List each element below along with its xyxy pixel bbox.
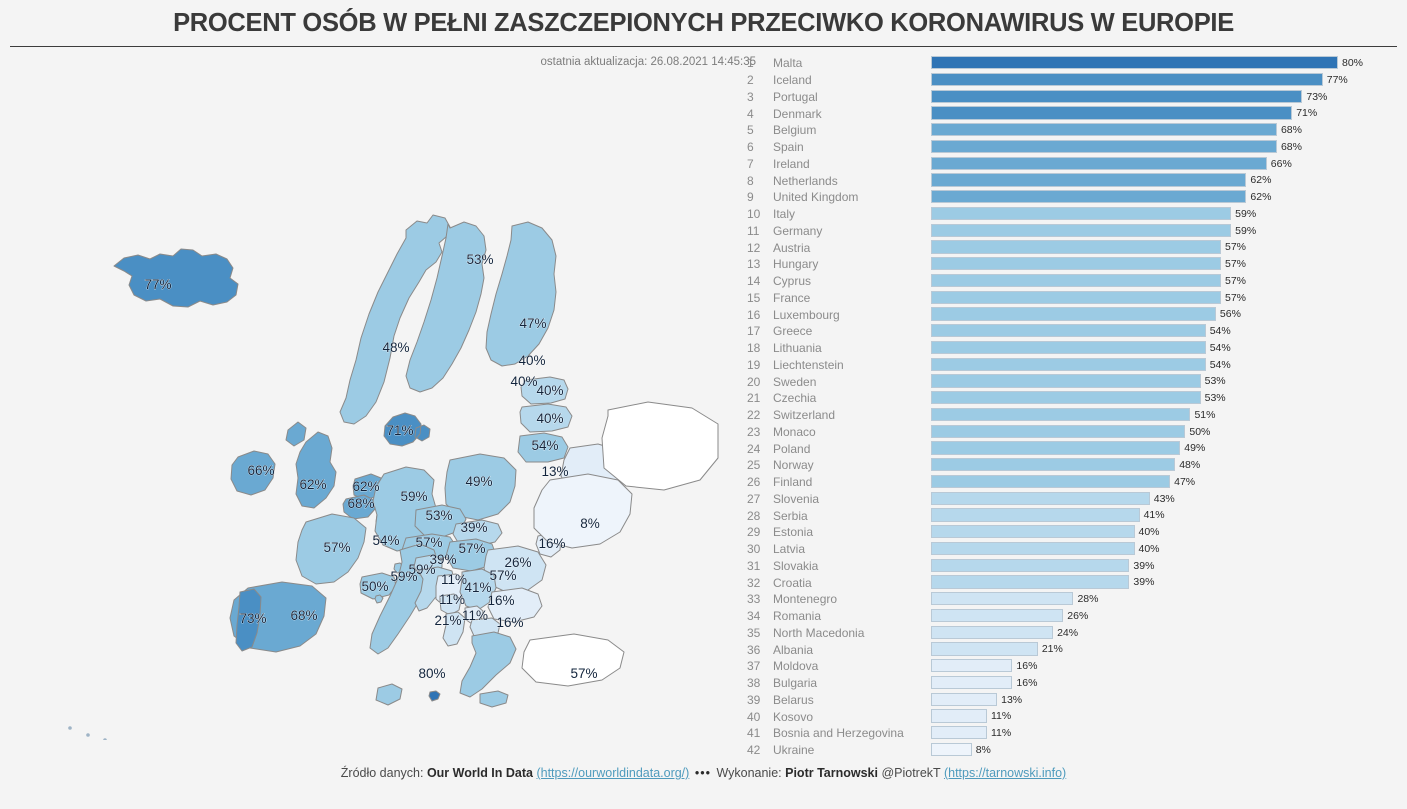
value-label: 53% bbox=[1205, 392, 1226, 404]
value-label: 16% bbox=[1016, 677, 1037, 689]
rank-number: 15 bbox=[745, 291, 773, 305]
value-bar[interactable] bbox=[931, 391, 1201, 404]
ranking-row[interactable]: 9United Kingdom62% bbox=[745, 189, 1395, 206]
ranking-row[interactable]: 25Norway48% bbox=[745, 457, 1395, 474]
bar-zone: 28% bbox=[931, 591, 1395, 608]
value-bar[interactable] bbox=[931, 458, 1175, 471]
ranking-row[interactable]: 14Cyprus57% bbox=[745, 273, 1395, 290]
ranking-row[interactable]: 5Belgium68% bbox=[745, 122, 1395, 139]
bar-zone: 24% bbox=[931, 625, 1395, 642]
bar-zone: 16% bbox=[931, 675, 1395, 692]
value-bar[interactable] bbox=[931, 324, 1206, 337]
rank-number: 4 bbox=[745, 107, 773, 121]
bar-zone: 50% bbox=[931, 424, 1395, 441]
ranking-row[interactable]: 31Slovakia39% bbox=[745, 558, 1395, 575]
rank-number: 13 bbox=[745, 257, 773, 271]
bar-zone: 54% bbox=[931, 357, 1395, 374]
rank-number: 39 bbox=[745, 693, 773, 707]
bar-zone: 13% bbox=[931, 692, 1395, 709]
map-value-label-cyprus: 57% bbox=[570, 666, 597, 681]
map-region-greece[interactable] bbox=[460, 632, 516, 707]
value-bar[interactable] bbox=[931, 525, 1135, 538]
value-label: 51% bbox=[1194, 409, 1215, 421]
map-value-label-malta: 80% bbox=[418, 666, 445, 681]
country-name: Germany bbox=[773, 224, 931, 238]
value-label: 62% bbox=[1250, 174, 1271, 186]
bar-zone: 39% bbox=[931, 558, 1395, 575]
country-name: Italy bbox=[773, 207, 931, 221]
ranking-row[interactable]: 17Greece54% bbox=[745, 323, 1395, 340]
bar-zone: 53% bbox=[931, 390, 1395, 407]
ranking-row[interactable]: 36Albania21% bbox=[745, 641, 1395, 658]
ranking-row[interactable]: 3Portugal73% bbox=[745, 89, 1395, 106]
value-label: 77% bbox=[1327, 74, 1348, 86]
value-label: 13% bbox=[1001, 694, 1022, 706]
map-region-iceland[interactable] bbox=[114, 249, 238, 307]
map-value-label-netherlands: 62% bbox=[352, 479, 379, 494]
bar-zone: 62% bbox=[931, 189, 1395, 206]
value-label: 8% bbox=[976, 744, 991, 756]
value-label: 26% bbox=[1067, 610, 1088, 622]
bar-zone: 47% bbox=[931, 474, 1395, 491]
bar-zone: 56% bbox=[931, 306, 1395, 323]
value-label: 40% bbox=[1139, 543, 1160, 555]
value-bar[interactable] bbox=[931, 441, 1180, 454]
bar-zone: 73% bbox=[931, 89, 1395, 106]
country-name: Austria bbox=[773, 241, 931, 255]
value-bar[interactable] bbox=[931, 257, 1221, 270]
bar-zone: 16% bbox=[931, 658, 1395, 675]
bar-zone: 40% bbox=[931, 524, 1395, 541]
bar-zone: 71% bbox=[931, 105, 1395, 122]
map-region-united-kingdom[interactable] bbox=[286, 422, 336, 508]
ranking-row[interactable]: 39Belarus13% bbox=[745, 692, 1395, 709]
rank-number: 41 bbox=[745, 726, 773, 740]
rank-number: 40 bbox=[745, 710, 773, 724]
bar-zone: 11% bbox=[931, 708, 1395, 725]
country-name: Belarus bbox=[773, 693, 931, 707]
author-label: Wykonanie: bbox=[716, 766, 781, 780]
value-bar[interactable] bbox=[931, 626, 1053, 639]
country-name: Bulgaria bbox=[773, 676, 931, 690]
bar-zone: 51% bbox=[931, 407, 1395, 424]
rank-number: 27 bbox=[745, 492, 773, 506]
author-name: Piotr Tarnowski bbox=[785, 766, 878, 780]
bar-zone: 77% bbox=[931, 72, 1395, 89]
rank-number: 28 bbox=[745, 509, 773, 523]
ranking-row[interactable]: 30Latvia40% bbox=[745, 541, 1395, 558]
value-label: 43% bbox=[1154, 493, 1175, 505]
value-label: 71% bbox=[1296, 107, 1317, 119]
rank-number: 7 bbox=[745, 157, 773, 171]
value-bar[interactable] bbox=[931, 374, 1201, 387]
last-update-timestamp: ostatnia aktualizacja: 26.08.2021 14:45:… bbox=[466, 56, 756, 68]
country-name: Montenegro bbox=[773, 592, 931, 606]
value-label: 57% bbox=[1225, 292, 1246, 304]
bar-zone: 40% bbox=[931, 541, 1395, 558]
map-icon: 77%53%47%48%40%40%71%54%13%66%62%62%59%4… bbox=[10, 80, 730, 740]
rank-number: 24 bbox=[745, 442, 773, 456]
map-value-label-sweden: 53% bbox=[466, 252, 493, 267]
value-label: 47% bbox=[1174, 476, 1195, 488]
country-name: Moldova bbox=[773, 659, 931, 673]
value-bar[interactable] bbox=[931, 56, 1338, 69]
country-name: Albania bbox=[773, 643, 931, 657]
rank-number: 34 bbox=[745, 609, 773, 623]
rank-number: 9 bbox=[745, 190, 773, 204]
value-bar[interactable] bbox=[931, 592, 1073, 605]
value-bar[interactable] bbox=[931, 559, 1129, 572]
rank-number: 35 bbox=[745, 626, 773, 640]
country-name: Sweden bbox=[773, 375, 931, 389]
rank-number: 32 bbox=[745, 576, 773, 590]
ranking-row[interactable]: 32Croatia39% bbox=[745, 574, 1395, 591]
bar-zone: 54% bbox=[931, 340, 1395, 357]
country-name: Portugal bbox=[773, 90, 931, 104]
ranking-list[interactable]: 1Malta80%2Iceland77%3Portugal73%4Denmark… bbox=[745, 55, 1395, 755]
value-bar[interactable] bbox=[931, 492, 1150, 505]
map-value-label-poland: 49% bbox=[465, 474, 492, 489]
country-name: Czechia bbox=[773, 391, 931, 405]
country-name: Norway bbox=[773, 458, 931, 472]
country-name: Cyprus bbox=[773, 274, 931, 288]
value-bar[interactable] bbox=[931, 408, 1190, 421]
map-value-label-estonia: 40% bbox=[536, 383, 563, 398]
country-name: Slovakia bbox=[773, 559, 931, 573]
value-bar[interactable] bbox=[931, 609, 1063, 622]
value-bar[interactable] bbox=[931, 358, 1206, 371]
map-value-label-bulgaria: 16% bbox=[487, 593, 514, 608]
value-bar[interactable] bbox=[931, 659, 1012, 672]
country-name: Malta bbox=[773, 56, 931, 70]
bar-zone: 48% bbox=[931, 457, 1395, 474]
source-name: Our World In Data bbox=[427, 766, 533, 780]
country-name: Luxembourg bbox=[773, 308, 931, 322]
value-label: 68% bbox=[1281, 141, 1302, 153]
value-label: 54% bbox=[1210, 342, 1231, 354]
rank-number: 25 bbox=[745, 458, 773, 472]
bar-zone: 43% bbox=[931, 491, 1395, 508]
country-name: Finland bbox=[773, 475, 931, 489]
value-label: 57% bbox=[1225, 258, 1246, 270]
bar-zone: 57% bbox=[931, 290, 1395, 307]
value-bar[interactable] bbox=[931, 274, 1221, 287]
value-label: 41% bbox=[1144, 509, 1165, 521]
bar-zone: 26% bbox=[931, 608, 1395, 625]
map-region-russia-part[interactable] bbox=[602, 402, 718, 490]
value-label: 39% bbox=[1133, 576, 1154, 588]
bar-zone: 80% bbox=[931, 55, 1395, 72]
value-bar[interactable] bbox=[931, 140, 1277, 153]
value-label: 28% bbox=[1077, 593, 1098, 605]
map-value-label-kosovo: 11% bbox=[462, 608, 488, 623]
value-bar[interactable] bbox=[931, 425, 1185, 438]
value-bar[interactable] bbox=[931, 575, 1129, 588]
value-bar[interactable] bbox=[931, 726, 987, 739]
source-label: Źródło danych: bbox=[341, 766, 424, 780]
map-value-label-czechia: 53% bbox=[425, 508, 452, 523]
bar-zone: 53% bbox=[931, 373, 1395, 390]
map-region-finland[interactable] bbox=[486, 222, 556, 366]
map-value-label-lithuania: 54% bbox=[531, 438, 558, 453]
bar-zone: 68% bbox=[931, 139, 1395, 156]
ranking-row[interactable]: 8Netherlands62% bbox=[745, 172, 1395, 189]
map-value-label-ireland: 66% bbox=[247, 463, 274, 478]
ranking-row[interactable]: 29Estonia40% bbox=[745, 524, 1395, 541]
rank-number: 38 bbox=[745, 676, 773, 690]
rank-number: 37 bbox=[745, 659, 773, 673]
country-name: Latvia bbox=[773, 542, 931, 556]
ranking-row[interactable]: 40Kosovo11% bbox=[745, 708, 1395, 725]
value-label: 56% bbox=[1220, 308, 1241, 320]
ranking-row[interactable]: 4Denmark71% bbox=[745, 105, 1395, 122]
ranking-row[interactable]: 1Malta80% bbox=[745, 55, 1395, 72]
value-bar[interactable] bbox=[931, 123, 1277, 136]
map-value-label-bosnia-and-herzegovina: 11% bbox=[441, 572, 467, 587]
value-bar[interactable] bbox=[931, 475, 1170, 488]
map-region-monaco[interactable] bbox=[375, 595, 383, 603]
footer-separator: ••• bbox=[693, 766, 713, 780]
rank-number: 5 bbox=[745, 123, 773, 137]
map-value-label-latvia: 40% bbox=[536, 411, 563, 426]
country-name: North Macedonia bbox=[773, 626, 931, 640]
ranking-row[interactable]: 19Liechtenstein54% bbox=[745, 357, 1395, 374]
map-value-label-greece: 57% bbox=[489, 568, 516, 583]
bar-zone: 54% bbox=[931, 323, 1395, 340]
map-value-label-albania: 21% bbox=[434, 613, 461, 628]
value-label: 59% bbox=[1235, 225, 1256, 237]
map-value-label-denmark: 71% bbox=[386, 423, 413, 438]
value-label: 11% bbox=[991, 710, 1011, 722]
ranking-row[interactable]: 33Montenegro28% bbox=[745, 591, 1395, 608]
map-value-label-north-macedonia: 16% bbox=[496, 615, 523, 630]
map-value-label-montenegro: 11% bbox=[439, 592, 465, 607]
ranking-row[interactable]: 11Germany59% bbox=[745, 223, 1395, 240]
map-region-malta[interactable] bbox=[429, 691, 440, 701]
rank-number: 1 bbox=[745, 56, 773, 70]
bar-zone: 62% bbox=[931, 172, 1395, 189]
source-link[interactable]: (https://ourworldindata.org/) bbox=[536, 766, 689, 780]
value-label: 11% bbox=[991, 727, 1011, 739]
country-name: Estonia bbox=[773, 525, 931, 539]
value-bar[interactable] bbox=[931, 106, 1292, 119]
ranking-row[interactable]: 2Iceland77% bbox=[745, 72, 1395, 89]
map-value-label-united-kingdom: 62% bbox=[299, 477, 326, 492]
europe-map[interactable]: 77%53%47%48%40%40%71%54%13%66%62%62%59%4… bbox=[10, 80, 730, 740]
value-label: 50% bbox=[1189, 426, 1210, 438]
map-value-label-monaco: 40% bbox=[510, 374, 537, 389]
bar-zone: 41% bbox=[931, 507, 1395, 524]
ranking-row[interactable]: 35North Macedonia24% bbox=[745, 625, 1395, 642]
value-label: 57% bbox=[1225, 241, 1246, 253]
ranking-row[interactable]: 10Italy59% bbox=[745, 206, 1395, 223]
value-bar[interactable] bbox=[931, 693, 997, 706]
map-value-label-germany: 59% bbox=[400, 489, 427, 504]
ranking-row[interactable]: 28Serbia41% bbox=[745, 507, 1395, 524]
country-name: Monaco bbox=[773, 425, 931, 439]
map-value-label-spain: 68% bbox=[290, 608, 317, 623]
ranking-row[interactable]: 23Monaco50% bbox=[745, 424, 1395, 441]
value-bar[interactable] bbox=[931, 743, 972, 756]
ranking-row[interactable]: 34Romania26% bbox=[745, 608, 1395, 625]
country-name: Belgium bbox=[773, 123, 931, 137]
bar-zone: 57% bbox=[931, 239, 1395, 256]
country-name: Romania bbox=[773, 609, 931, 623]
rank-number: 36 bbox=[745, 643, 773, 657]
rank-number: 42 bbox=[745, 743, 773, 757]
value-bar[interactable] bbox=[931, 542, 1135, 555]
ranking-row[interactable]: 22Switzerland51% bbox=[745, 407, 1395, 424]
header-divider bbox=[10, 46, 1397, 47]
rank-number: 3 bbox=[745, 90, 773, 104]
ranking-row[interactable]: 18Lithuania54% bbox=[745, 340, 1395, 357]
value-label: 59% bbox=[1235, 208, 1256, 220]
ranking-row[interactable]: 15France57% bbox=[745, 290, 1395, 307]
rank-number: 12 bbox=[745, 241, 773, 255]
value-bar[interactable] bbox=[931, 291, 1221, 304]
value-bar[interactable] bbox=[931, 307, 1216, 320]
author-link[interactable]: (https://tarnowski.info) bbox=[944, 766, 1066, 780]
bar-zone: 49% bbox=[931, 440, 1395, 457]
value-bar[interactable] bbox=[931, 207, 1231, 220]
rank-number: 11 bbox=[745, 224, 773, 238]
infographic-root: PROCENT OSÓB W PEŁNI ZASZCZEPIONYCH PRZE… bbox=[0, 0, 1407, 809]
map-value-label-austria: 57% bbox=[415, 535, 442, 550]
ranking-row[interactable]: 7Ireland66% bbox=[745, 156, 1395, 173]
value-label: 48% bbox=[1179, 459, 1200, 471]
country-name: Bosnia and Herzegovina bbox=[773, 726, 931, 740]
rank-number: 14 bbox=[745, 274, 773, 288]
value-label: 16% bbox=[1016, 660, 1037, 672]
country-name: Kosovo bbox=[773, 710, 931, 724]
ranking-row[interactable]: 20Sweden53% bbox=[745, 373, 1395, 390]
footer: Źródło danych: Our World In Data (https:… bbox=[0, 766, 1407, 780]
country-name: Lithuania bbox=[773, 341, 931, 355]
ranking-row[interactable]: 41Bosnia and Herzegovina11% bbox=[745, 725, 1395, 742]
country-name: Switzerland bbox=[773, 408, 931, 422]
ranking-row[interactable]: 24Poland49% bbox=[745, 440, 1395, 457]
rank-number: 19 bbox=[745, 358, 773, 372]
bar-zone: 39% bbox=[931, 574, 1395, 591]
country-name: Croatia bbox=[773, 576, 931, 590]
map-value-label-norway: 48% bbox=[382, 340, 409, 355]
value-label: 54% bbox=[1210, 359, 1231, 371]
value-label: 24% bbox=[1057, 627, 1078, 639]
rank-number: 20 bbox=[745, 375, 773, 389]
ranking-row[interactable]: 6Spain68% bbox=[745, 139, 1395, 156]
map-value-label-ukraine: 8% bbox=[580, 516, 600, 531]
map-value-label-switzerland: 50% bbox=[361, 579, 388, 594]
country-name: Liechtenstein bbox=[773, 358, 931, 372]
rank-number: 26 bbox=[745, 475, 773, 489]
rank-number: 6 bbox=[745, 140, 773, 154]
value-bar[interactable] bbox=[931, 157, 1267, 170]
ranking-row[interactable]: 16Luxembourg56% bbox=[745, 306, 1395, 323]
bar-zone: 21% bbox=[931, 641, 1395, 658]
map-island-dot bbox=[86, 733, 90, 737]
rank-number: 23 bbox=[745, 425, 773, 439]
ranking-row[interactable]: 13Hungary57% bbox=[745, 256, 1395, 273]
country-name: Serbia bbox=[773, 509, 931, 523]
rank-number: 18 bbox=[745, 341, 773, 355]
rank-number: 22 bbox=[745, 408, 773, 422]
map-value-label-belgium: 68% bbox=[347, 496, 374, 511]
value-bar[interactable] bbox=[931, 173, 1246, 186]
rank-number: 31 bbox=[745, 559, 773, 573]
value-bar[interactable] bbox=[931, 90, 1302, 103]
value-bar[interactable] bbox=[931, 508, 1140, 521]
ranking-row[interactable]: 38Bulgaria16% bbox=[745, 675, 1395, 692]
country-name: Slovenia bbox=[773, 492, 931, 506]
bar-zone: 59% bbox=[931, 206, 1395, 223]
country-name: Iceland bbox=[773, 73, 931, 87]
value-label: 54% bbox=[1210, 325, 1231, 337]
value-bar[interactable] bbox=[931, 224, 1231, 237]
map-value-label-liechtenstein: 40% bbox=[518, 353, 545, 368]
rank-number: 16 bbox=[745, 308, 773, 322]
map-value-label-belarus: 13% bbox=[541, 464, 568, 479]
rank-number: 10 bbox=[745, 207, 773, 221]
rank-number: 21 bbox=[745, 391, 773, 405]
ranking-row[interactable]: 21Czechia53% bbox=[745, 390, 1395, 407]
value-bar[interactable] bbox=[931, 73, 1323, 86]
rank-number: 29 bbox=[745, 525, 773, 539]
rank-number: 8 bbox=[745, 174, 773, 188]
map-value-label-iceland: 77% bbox=[144, 277, 171, 292]
value-bar[interactable] bbox=[931, 190, 1246, 203]
value-label: 66% bbox=[1271, 158, 1292, 170]
value-label: 49% bbox=[1184, 442, 1205, 454]
bar-zone: 59% bbox=[931, 223, 1395, 240]
map-island-dot bbox=[68, 726, 72, 730]
value-label: 80% bbox=[1342, 57, 1363, 69]
map-value-label-finland: 47% bbox=[519, 316, 546, 331]
country-name: Hungary bbox=[773, 257, 931, 271]
map-value-label-slovakia: 39% bbox=[460, 520, 487, 535]
rank-number: 30 bbox=[745, 542, 773, 556]
map-value-label-moldova: 16% bbox=[538, 536, 565, 551]
value-bar[interactable] bbox=[931, 341, 1206, 354]
value-label: 68% bbox=[1281, 124, 1302, 136]
map-value-label-luxembourg: 54% bbox=[372, 533, 399, 548]
country-name: Poland bbox=[773, 442, 931, 456]
ranking-row[interactable]: 26Finland47% bbox=[745, 474, 1395, 491]
country-name: Greece bbox=[773, 324, 931, 338]
bar-zone: 8% bbox=[931, 742, 1395, 759]
value-label: 73% bbox=[1306, 91, 1327, 103]
bar-zone: 66% bbox=[931, 156, 1395, 173]
rank-number: 2 bbox=[745, 73, 773, 87]
page-title: PROCENT OSÓB W PEŁNI ZASZCZEPIONYCH PRZE… bbox=[173, 9, 1234, 38]
map-value-label-portugal: 73% bbox=[239, 611, 266, 626]
value-label: 53% bbox=[1205, 375, 1226, 387]
value-bar[interactable] bbox=[931, 240, 1221, 253]
ranking-row[interactable]: 37Moldova16% bbox=[745, 658, 1395, 675]
ranking-row[interactable]: 12Austria57% bbox=[745, 239, 1395, 256]
ranking-row[interactable]: 42Ukraine8% bbox=[745, 742, 1395, 759]
ranking-row[interactable]: 27Slovenia43% bbox=[745, 491, 1395, 508]
country-name: Denmark bbox=[773, 107, 931, 121]
rank-number: 17 bbox=[745, 324, 773, 338]
map-value-label-france: 57% bbox=[323, 540, 350, 555]
value-bar[interactable] bbox=[931, 709, 987, 722]
country-name: France bbox=[773, 291, 931, 305]
value-bar[interactable] bbox=[931, 676, 1012, 689]
value-label: 62% bbox=[1250, 191, 1271, 203]
country-name: Ireland bbox=[773, 157, 931, 171]
map-value-label-italy: 59% bbox=[408, 562, 435, 577]
value-bar[interactable] bbox=[931, 642, 1038, 655]
